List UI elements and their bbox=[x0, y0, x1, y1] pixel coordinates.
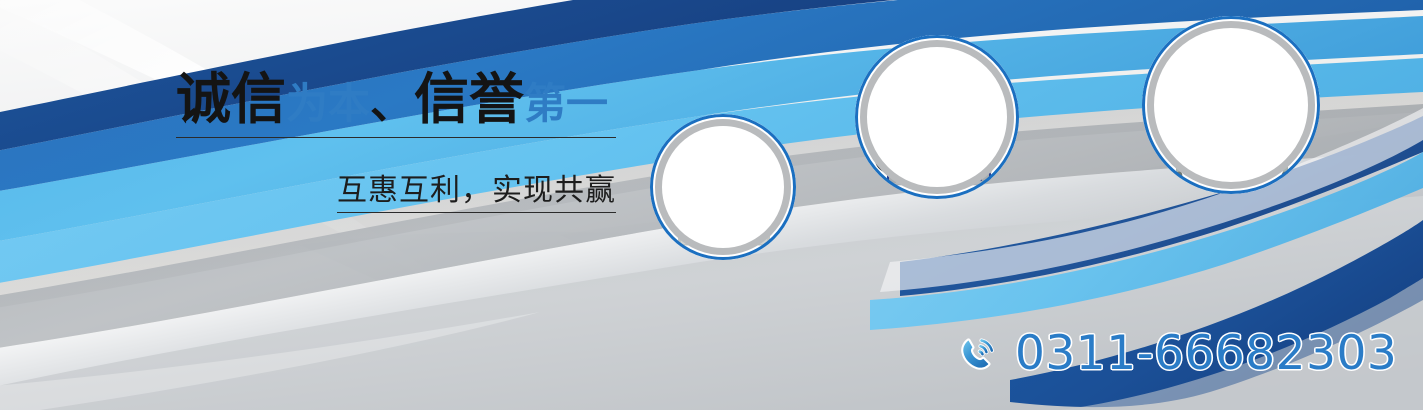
circle-outer-ring bbox=[650, 114, 796, 260]
circle-outer-ring bbox=[855, 35, 1019, 199]
contact-phone-line[interactable]: 0311-66682303 bbox=[955, 326, 1397, 381]
product-circle-workbench-1[interactable] bbox=[650, 114, 796, 260]
headline-part-2: 为本 bbox=[286, 80, 370, 127]
subtitle-wrapper: 互惠互利，实现共赢 bbox=[176, 165, 616, 213]
headline-part-3: 信誉 bbox=[414, 68, 524, 130]
slogan-block: 诚信为本、信誉第一 互惠互利，实现共赢 bbox=[176, 72, 624, 213]
promotional-banner: 诚信为本、信誉第一 互惠互利，实现共赢 bbox=[0, 0, 1423, 410]
headline-divider bbox=[176, 137, 616, 138]
headline: 诚信为本、信誉第一 bbox=[176, 72, 624, 133]
product-circle-trainer-case[interactable] bbox=[855, 35, 1019, 199]
headline-part-4: 第一 bbox=[524, 80, 608, 127]
phone-call-icon bbox=[955, 331, 1001, 377]
headline-separator: 、 bbox=[370, 79, 414, 128]
circle-outer-ring bbox=[1142, 16, 1320, 194]
product-circle-workbench-2[interactable] bbox=[1142, 16, 1320, 194]
phone-number[interactable]: 0311-66682303 bbox=[1015, 326, 1397, 381]
subtitle: 互惠互利，实现共赢 bbox=[337, 165, 616, 213]
headline-part-1: 诚信 bbox=[176, 68, 286, 130]
